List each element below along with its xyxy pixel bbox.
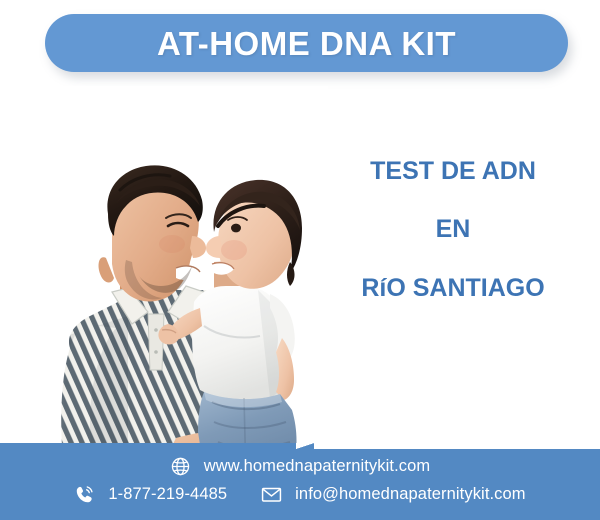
phone-icon	[74, 484, 95, 505]
footer-row-website: www.homednapaternitykit.com	[0, 456, 600, 477]
footer-phone-label: 1-877-219-4485	[108, 485, 227, 504]
headline-block: TEST DE ADN EN RíO SANTIAGO	[318, 158, 588, 301]
header-banner: AT-HOME DNA KIT	[45, 14, 568, 72]
footer-bar	[0, 443, 600, 520]
envelope-icon	[261, 484, 282, 505]
headline-line-2: EN	[318, 216, 588, 242]
globe-icon	[170, 456, 191, 477]
footer-notch-slope	[296, 443, 314, 449]
footer-website-label: www.homednapaternitykit.com	[204, 457, 430, 476]
footer-email[interactable]: info@homednapaternitykit.com	[261, 484, 526, 505]
footer-notch	[310, 443, 600, 449]
hero-photo	[8, 86, 328, 484]
page-title: AT-HOME DNA KIT	[157, 27, 456, 60]
footer-email-label: info@homednapaternitykit.com	[295, 485, 526, 504]
hero-photo-image	[8, 86, 328, 484]
headline-line-3: RíO SANTIAGO	[318, 275, 588, 301]
headline-line-1: TEST DE ADN	[318, 158, 588, 184]
poster-canvas: AT-HOME DNA KIT	[0, 0, 600, 520]
footer-website[interactable]: www.homednapaternitykit.com	[170, 456, 430, 477]
footer-row-contact: 1-877-219-4485 info@homednapaternitykit.…	[0, 484, 600, 505]
footer-phone[interactable]: 1-877-219-4485	[74, 484, 227, 505]
